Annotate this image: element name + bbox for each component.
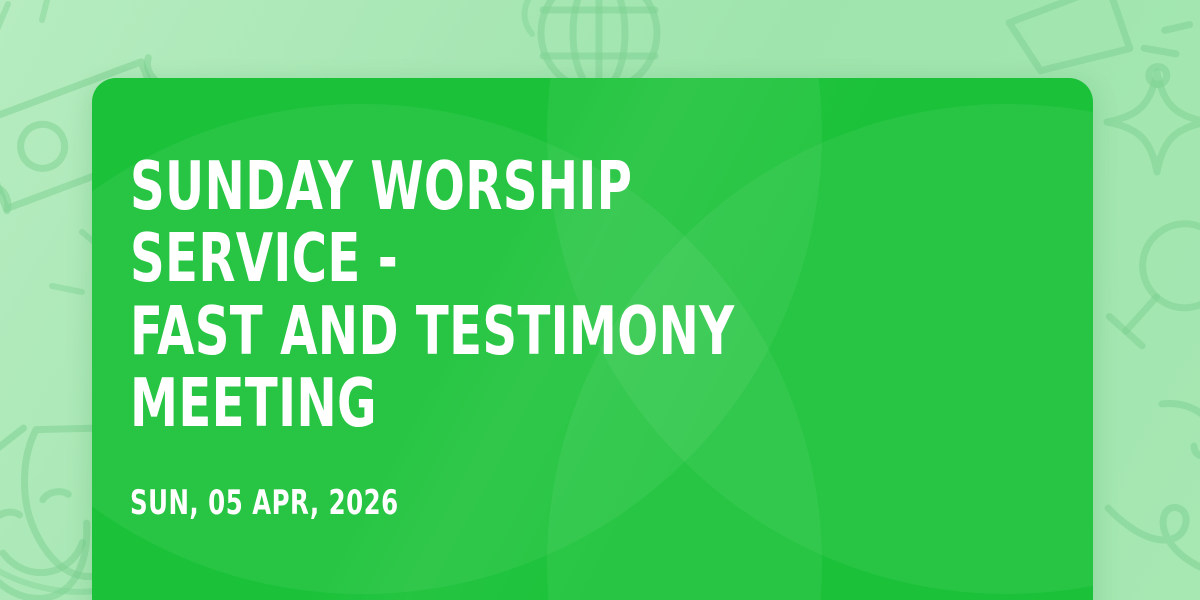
event-card: SUNDAY WORSHIP SERVICE - FAST AND TESTIM… (92, 78, 1093, 600)
confetti-dash-icon (0, 0, 80, 72)
event-card-content: SUNDAY WORSHIP SERVICE - FAST AND TESTIM… (130, 150, 1033, 523)
confetti-dash-icon (498, 0, 558, 64)
sparkle-icon (1097, 62, 1200, 182)
event-date: SUN, 05 APR, 2026 (130, 483, 852, 523)
event-title: SUNDAY WORSHIP SERVICE - FAST AND TESTIM… (130, 150, 852, 439)
event-banner: SUNDAY WORSHIP SERVICE - FAST AND TESTIM… (0, 0, 1200, 600)
streamer-icon (1098, 398, 1200, 600)
microphone-icon (1098, 212, 1200, 392)
